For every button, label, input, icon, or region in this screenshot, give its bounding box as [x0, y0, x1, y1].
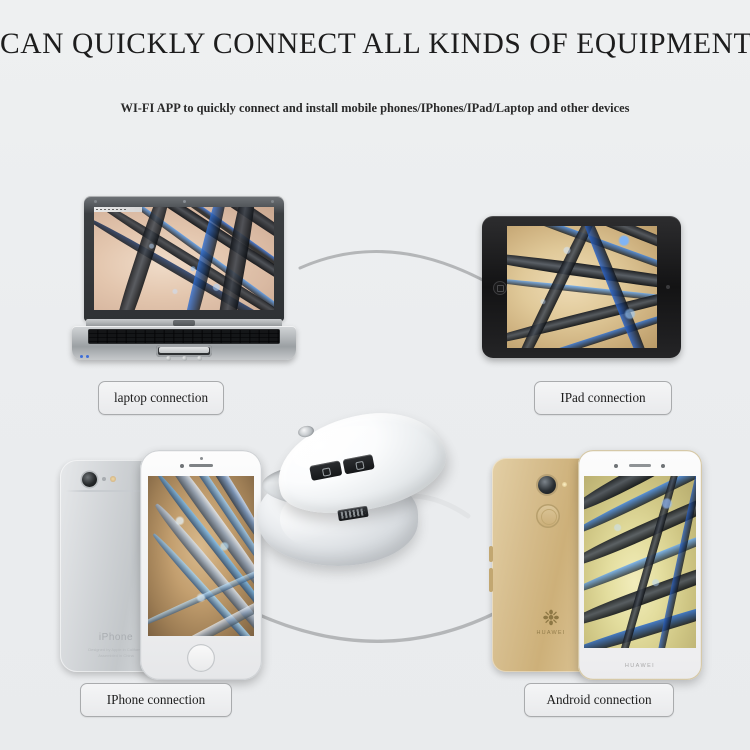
- iphone-front-camera-icon: [180, 464, 184, 468]
- caption-ipad-connection: IPad connection: [534, 381, 672, 415]
- huawei-hair-microscope-image: [584, 476, 696, 648]
- iphone-home-button[interactable]: [187, 644, 215, 672]
- laptop-screen: [94, 207, 274, 310]
- laptop-hair-microscope-image: [94, 207, 274, 310]
- laptop-webcam-icon: [183, 200, 186, 203]
- iphone-flash-icon: [110, 476, 116, 482]
- page-title: CAN QUICKLY CONNECT ALL KINDS OF EQUIPME…: [0, 28, 750, 61]
- wifi-scanner-device: [252, 412, 452, 572]
- huawei-devices: ❉ HUAWEI HUAWEI: [492, 450, 702, 680]
- ipad-screen: [507, 226, 657, 348]
- laptop-lid-dot-left: [94, 200, 97, 203]
- iphone-earpiece-icon: [189, 464, 213, 467]
- iphone-proximity-sensor-icon: [200, 457, 203, 460]
- page-subtitle: WI-FI APP to quickly connect and install…: [0, 101, 750, 116]
- huawei-flash-icon: [562, 482, 567, 487]
- iphone-screen: [148, 476, 254, 636]
- iphone-microphone-icon: [102, 477, 106, 481]
- infographic-page: CAN QUICKLY CONNECT ALL KINDS OF EQUIPME…: [0, 0, 750, 750]
- huawei-volume-button[interactable]: [489, 546, 493, 562]
- laptop-device: [72, 196, 302, 366]
- laptop-lid: [84, 196, 284, 321]
- caption-android-connection: Android connection: [524, 683, 674, 717]
- laptop-lid-dot-right: [271, 200, 274, 203]
- caption-laptop-connection: laptop connection: [98, 381, 224, 415]
- huawei-front-brand-label: HUAWEI: [578, 663, 702, 669]
- huawei-front-camera-icon: [614, 464, 618, 468]
- apple-logo-icon: : [106, 538, 126, 564]
- huawei-front-view: HUAWEI: [578, 450, 702, 680]
- laptop-status-indicators: [80, 355, 92, 358]
- huawei-rear-camera-icon: [538, 476, 556, 494]
- huawei-fingerprint-sensor-icon[interactable]: [536, 504, 560, 528]
- laptop-keyboard[interactable]: [88, 329, 280, 344]
- huawei-screen: [584, 476, 696, 648]
- laptop-media-buttons[interactable]: [166, 356, 202, 361]
- iphone-rear-camera-icon: [82, 472, 97, 487]
- ipad-device: [482, 216, 681, 358]
- laptop-base: [72, 326, 296, 360]
- ipad-hair-microscope-image: [507, 226, 657, 348]
- iphone-front-view: [140, 450, 262, 680]
- ipad-home-button[interactable]: [493, 281, 507, 295]
- caption-iphone-connection: IPhone connection: [80, 683, 232, 717]
- huawei-power-button[interactable]: [489, 568, 493, 592]
- laptop-titlebar: [94, 207, 142, 212]
- huawei-earpiece-icon: [629, 464, 651, 467]
- iphone-hair-microscope-image: [148, 476, 254, 636]
- huawei-proximity-sensor-icon: [661, 464, 665, 468]
- ipad-front-camera-icon: [666, 285, 670, 289]
